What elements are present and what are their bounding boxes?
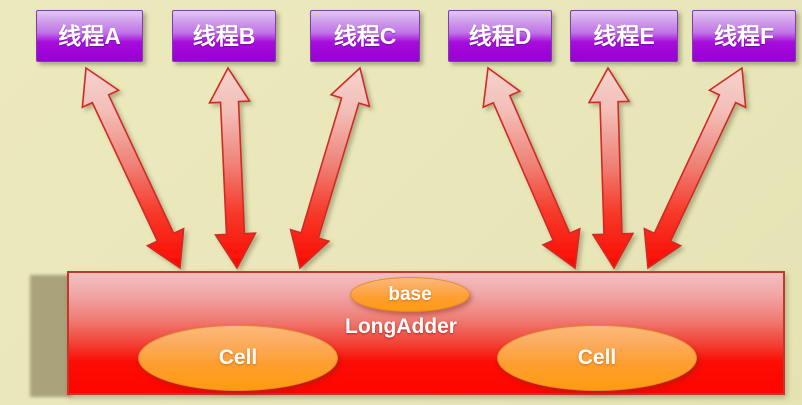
arrow-thread-b	[210, 68, 256, 268]
thread-box-c[interactable]: 线程C	[310, 10, 420, 62]
arrow-thread-a	[82, 68, 183, 268]
thread-label-c: 线程C	[334, 25, 397, 48]
arrow-thread-d	[483, 68, 580, 268]
ellipse-cell-right[interactable]: Cell	[497, 325, 697, 391]
thread-box-a[interactable]: 线程A	[36, 10, 143, 62]
thread-box-f[interactable]: 线程F	[692, 10, 796, 62]
thread-label-a: 线程A	[58, 25, 121, 48]
thread-label-b: 线程B	[193, 25, 256, 48]
ellipse-base[interactable]: base	[350, 277, 470, 312]
thread-box-e[interactable]: 线程E	[570, 10, 678, 62]
thread-label-f: 线程F	[714, 25, 774, 48]
ellipse-cell-left-label: Cell	[219, 346, 258, 370]
ellipse-base-label: base	[388, 284, 431, 306]
thread-box-d[interactable]: 线程D	[448, 10, 552, 62]
ellipse-cell-right-label: Cell	[578, 346, 617, 370]
thread-label-e: 线程E	[593, 25, 654, 48]
panel-shadow-bar	[30, 275, 72, 397]
ellipse-cell-left[interactable]: Cell	[138, 325, 338, 391]
arrow-thread-c	[291, 68, 370, 268]
arrow-thread-e	[589, 68, 633, 268]
thread-box-b[interactable]: 线程B	[172, 10, 276, 62]
diagram-canvas: 线程A 线程B 线程C 线程D 线程E 线程F base LongAdder C…	[0, 0, 802, 405]
arrow-thread-f	[644, 68, 745, 268]
thread-label-d: 线程D	[469, 25, 532, 48]
